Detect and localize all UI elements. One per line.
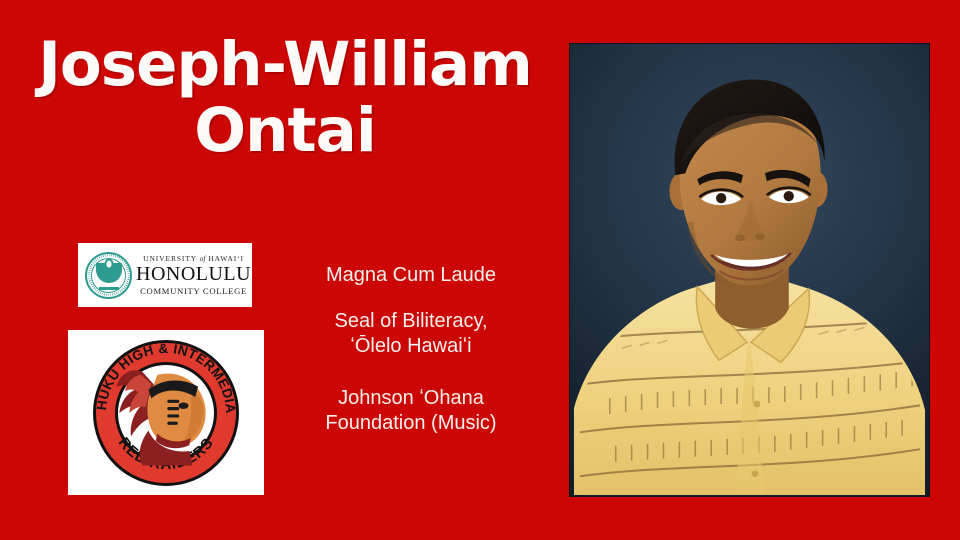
page-title: Joseph-William Ontai xyxy=(20,34,550,162)
logo-university-suffix: Hawaiʻi xyxy=(208,254,244,263)
logo-sub-name: Community College xyxy=(136,286,251,296)
logo-main-name: HONOLULU xyxy=(136,263,251,285)
student-portrait-photo xyxy=(569,43,930,497)
logo-university-line: University of Hawaiʻi xyxy=(136,254,251,263)
logo-university-of: of xyxy=(200,254,206,263)
achievement-item-2: Seal of Biliteracy, ʻŌlelo Hawaiʻi xyxy=(282,309,540,360)
title-line-2: Ontai xyxy=(20,100,550,162)
logo-honolulu-community-college: University of Hawaiʻi HONOLULU Community… xyxy=(78,243,252,307)
title-line-1: Joseph-William xyxy=(20,34,550,96)
warrior-head-icon xyxy=(93,340,239,486)
achievement-item-1: Magna Cum Laude xyxy=(282,263,540,289)
portrait-illustration xyxy=(570,44,929,495)
logo-wordmark: University of Hawaiʻi HONOLULU Community… xyxy=(132,254,251,296)
logo-kahuku-high-intermediate: KAHUKU HIGH & INTERMEDIATE RED RAIDERS xyxy=(68,330,264,495)
university-seal-icon xyxy=(85,252,132,299)
red-raiders-badge-icon: KAHUKU HIGH & INTERMEDIATE RED RAIDERS xyxy=(93,340,239,486)
achievement-item-3: Johnson ʻOhana Foundation (Music) xyxy=(282,386,540,437)
logo-university-prefix: University xyxy=(143,254,197,263)
slide-root: Joseph-William Ontai University of Hawai… xyxy=(0,0,960,540)
achievements-list: Magna Cum Laude Seal of Biliteracy, ʻŌle… xyxy=(282,263,540,437)
